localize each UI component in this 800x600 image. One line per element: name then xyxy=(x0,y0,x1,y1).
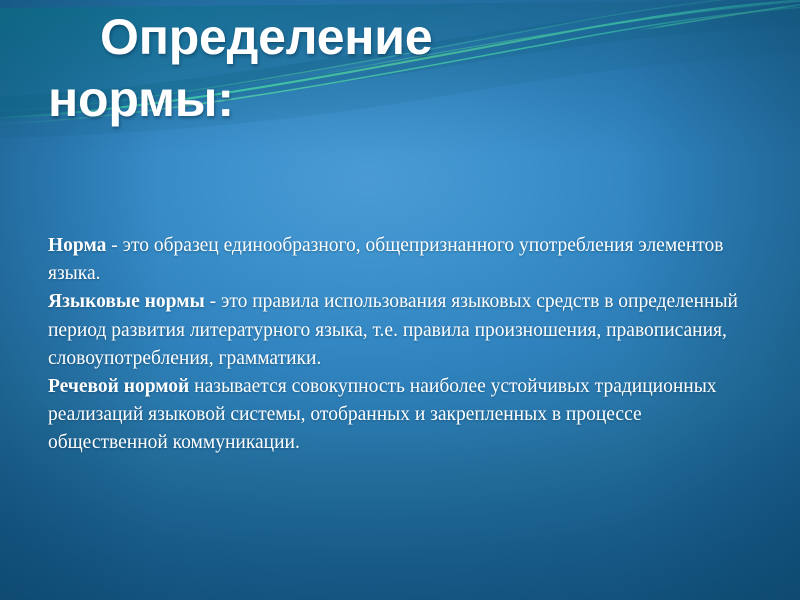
paragraph-2-term: Языковые нормы xyxy=(48,291,205,312)
slide-canvas: Определение нормы: Норма - это образец е… xyxy=(0,0,800,600)
title-line-2: нормы: xyxy=(48,68,776,130)
body-paragraph-2: Языковые нормы - это правила использован… xyxy=(48,288,760,373)
slide-body: Норма - это образец единообразного, обще… xyxy=(48,232,760,458)
paragraph-1-term: Норма xyxy=(48,235,106,256)
title-line-1: Определение xyxy=(48,6,776,68)
slide-title: Определение нормы: xyxy=(0,6,800,130)
paragraph-3-term: Речевой нормой xyxy=(48,376,189,397)
paragraph-1-text: - это образец единообразного, общепризна… xyxy=(48,235,724,284)
body-paragraph-1: Норма - это образец единообразного, обще… xyxy=(48,232,760,288)
body-paragraph-3: Речевой нормой называется совокупность н… xyxy=(48,373,760,458)
